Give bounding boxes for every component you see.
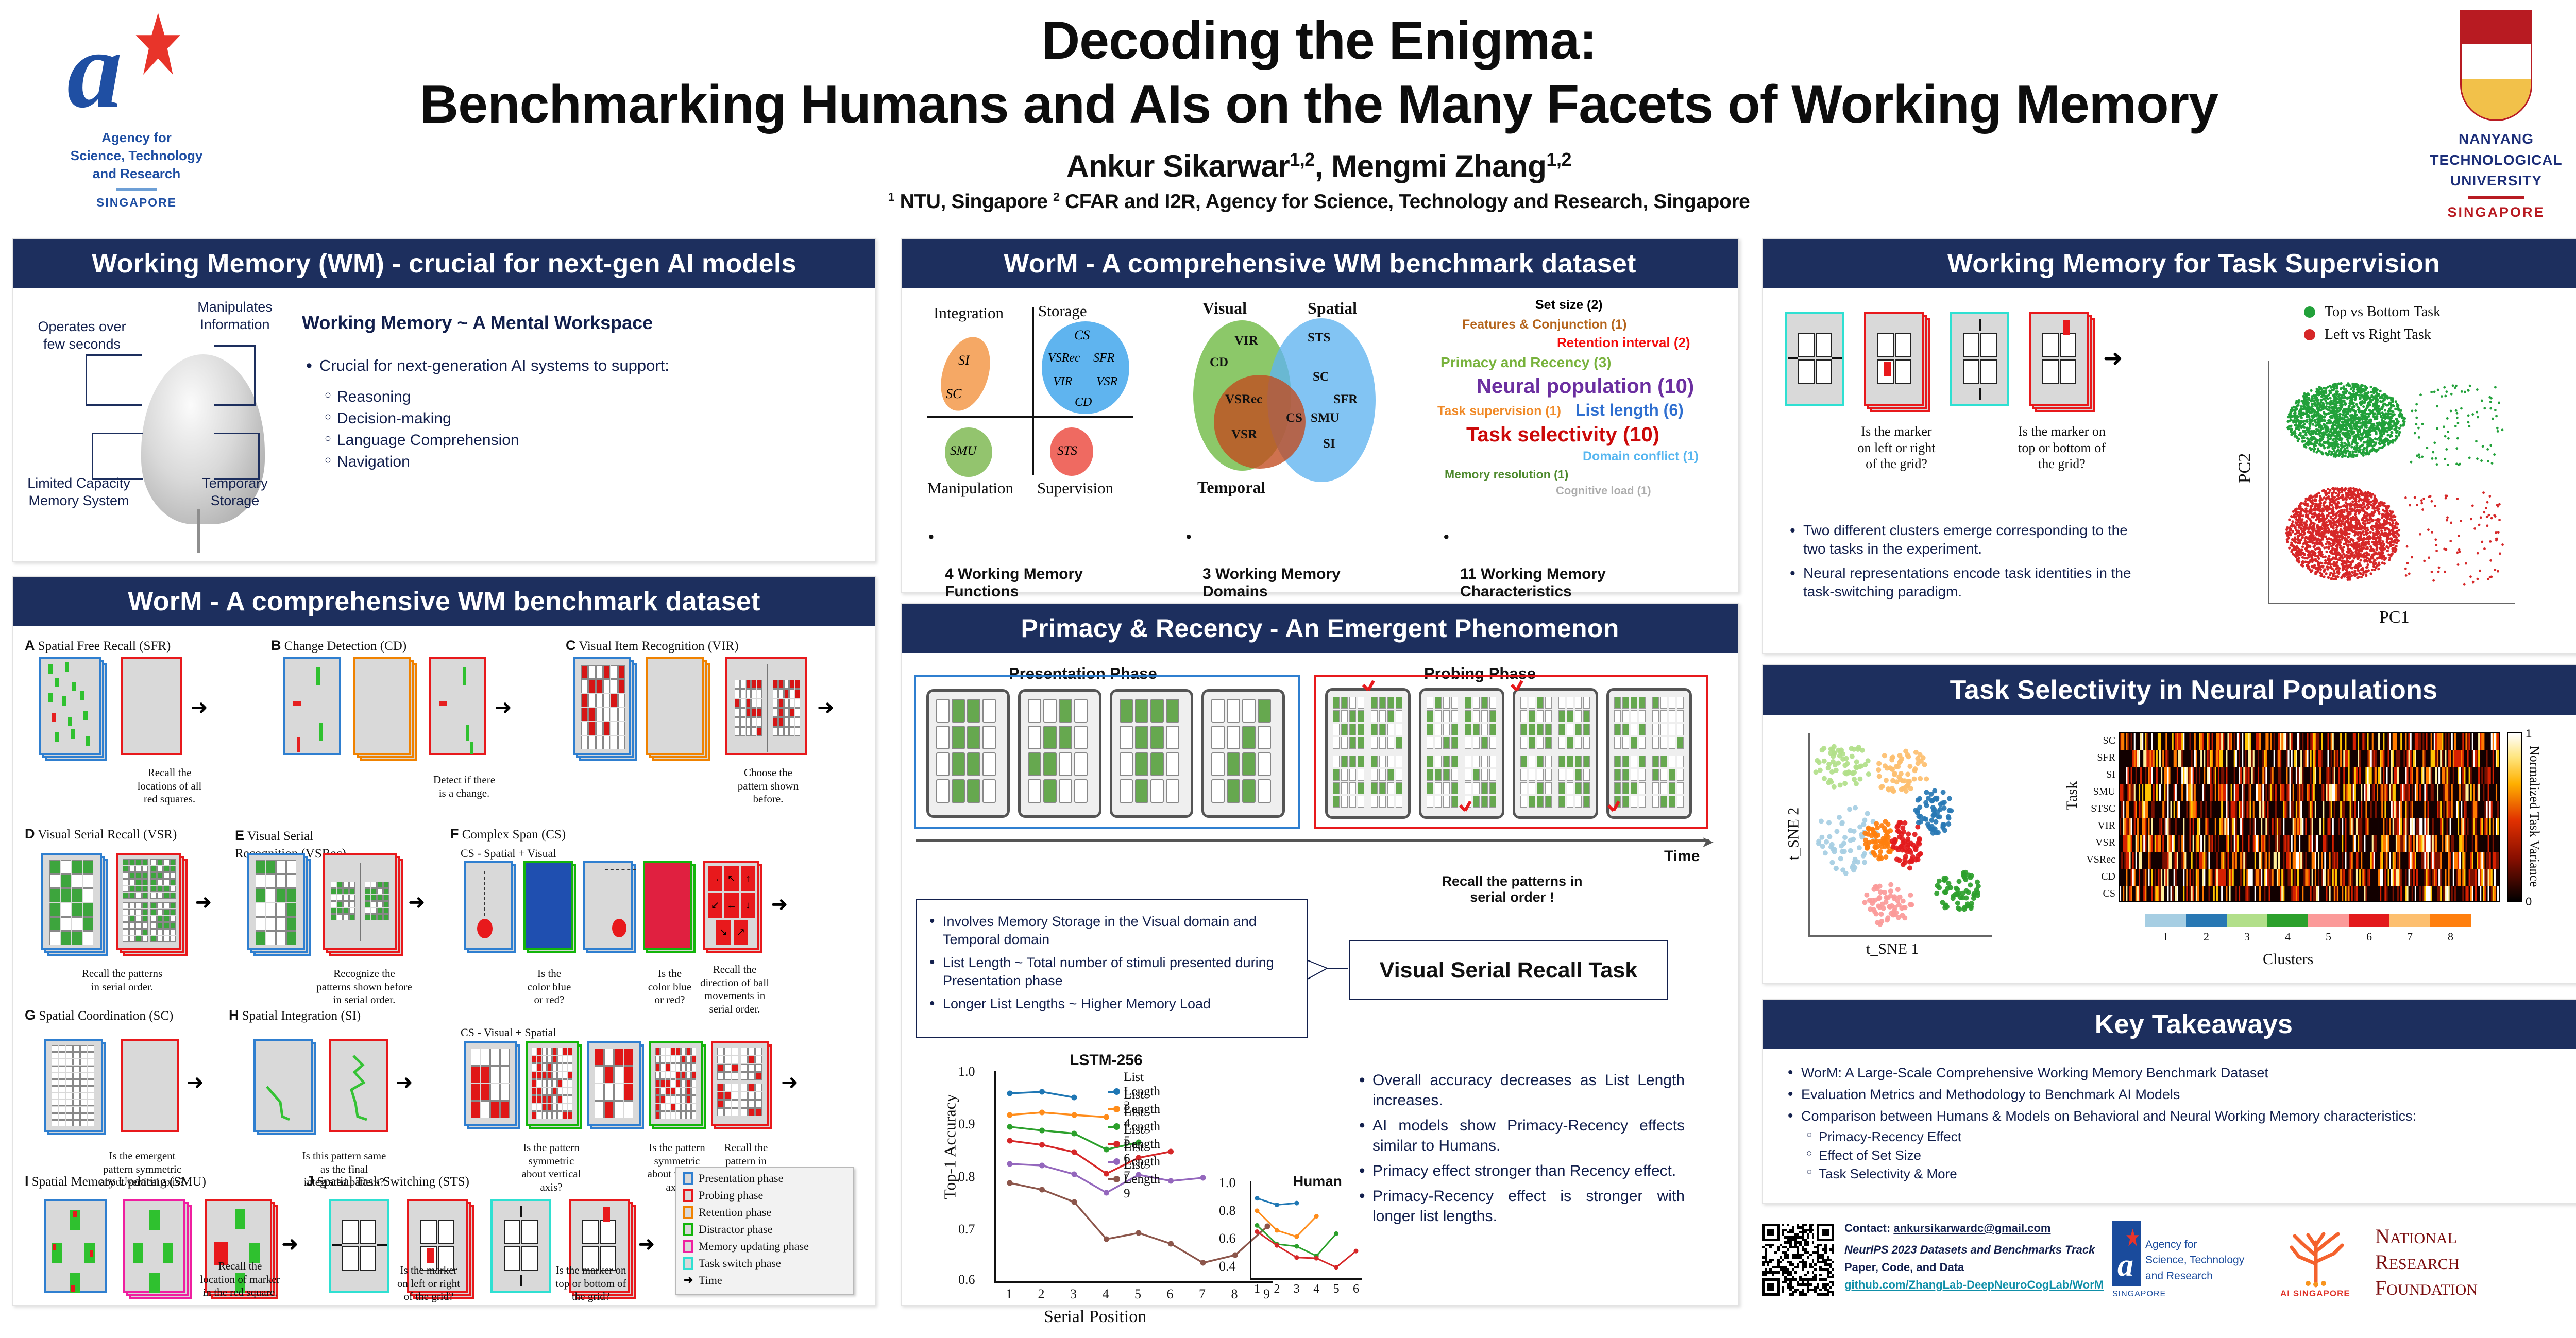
venn-label-spatial: Spatial	[1308, 299, 1357, 318]
cluster-swatch	[2308, 914, 2349, 927]
task-J-caption-2: Is the marker on top or bottom of the gr…	[542, 1264, 640, 1303]
task-D-arrow-icon: ➜	[195, 892, 212, 913]
wc-task-supervision: Task supervision (1)	[1437, 404, 1561, 419]
sup-bullet-1: Two different clusters emerge correspond…	[1786, 521, 2146, 559]
quad-label-supervision: Supervision	[1037, 479, 1113, 498]
chart-title: LSTM-256	[1070, 1052, 1143, 1069]
venn-item-VSRec: VSRec	[1225, 392, 1262, 407]
footer-astar-line1: Agency for	[2145, 1237, 2244, 1253]
caption-4-functions-text: 4 Working Memory Functions	[945, 565, 1083, 600]
quad-vertical-divider	[1032, 307, 1034, 475]
wm-sub-language: Language Comprehension	[321, 432, 858, 449]
cs1-caption-2: Is the color blue or red?	[639, 967, 701, 1007]
primacy-info-1: Involves Memory Storage in the Visual do…	[925, 913, 1296, 949]
task-J-arrow-icon: ➜	[638, 1234, 655, 1255]
task-H-name: Spatial Integration (SI)	[242, 1009, 361, 1023]
heatmap-row-label: CS	[2075, 888, 2115, 900]
timeline-arrow-head-icon: ➤	[1701, 833, 1714, 851]
ntu-divider	[2468, 196, 2524, 199]
heatmap-row-label: CD	[2075, 871, 2115, 883]
task-E-card-probe-1	[323, 853, 397, 950]
footer-astar-line2: Science, Technology	[2145, 1253, 2244, 1268]
task-D-card-probe-1	[116, 853, 181, 950]
tsne-y-axis	[1808, 733, 1810, 935]
footer-nrf-line3: FOUNDATION	[2375, 1275, 2530, 1301]
task-C-name: Visual Item Recognition (VIR)	[579, 639, 738, 653]
panel-takeaways-body: WorM: A Large-Scale Comprehensive Workin…	[1763, 1049, 2576, 1203]
panel-worm-tasks-body: A Spatial Free Recall (SFR) ➜ Recall the…	[13, 626, 875, 1305]
presentation-stimulus-1	[926, 689, 1010, 818]
cluster-label: 3	[2244, 930, 2250, 944]
task-H-letter: H	[229, 1007, 239, 1023]
pca-y-axis-label: PC2	[2235, 453, 2255, 484]
task-E-letter: E	[235, 828, 244, 843]
tsne-x-axis-label: t_SNE 1	[1866, 940, 1919, 958]
leader-line-top-right	[214, 345, 256, 406]
chart-ytick-5: 0.6	[958, 1272, 975, 1288]
panel-worm-tasks: WorM - A comprehensive WM benchmark data…	[12, 576, 876, 1306]
affiliations: 1 NTU, Singapore 2 CFAR and I2R, Agency …	[361, 190, 2277, 213]
panel-selectivity-title: Task Selectivity in Neural Populations	[1763, 665, 2576, 715]
task-C-card-probe	[725, 657, 807, 755]
legend-row-probing: Probing phase	[683, 1189, 853, 1202]
sup-bullets: Two different clusters emerge correspond…	[1786, 521, 2146, 607]
wm-sub-navigation: Navigation	[321, 453, 858, 471]
cluster-label: 8	[2448, 930, 2453, 944]
footer-astar-line3: and Research	[2145, 1268, 2244, 1284]
item-VIR: VIR	[1053, 375, 1072, 389]
ntu-logo: NANYANG TECHNOLOGICAL UNIVERSITY SINGAPO…	[2411, 10, 2576, 216]
task-E-caption: Recognize the patterns shown before in s…	[310, 967, 418, 1007]
task-B-card-retain-1	[353, 657, 411, 755]
panel-supervision-title: Working Memory for Task Supervision	[1763, 239, 2576, 288]
leader-line-bottom-right	[214, 433, 260, 480]
inset-ytick-1: 1.0	[1219, 1175, 1236, 1191]
legend-row-memory-updating: Memory updating phase	[683, 1240, 853, 1253]
heatmap-row-label: VSR	[2075, 837, 2115, 849]
human-inset-chart: Human 1.0 0.8 0.6 0.4 123456	[1217, 1177, 1371, 1301]
footer-text: Contact: ankursikarwardc@gmail.com NeurI…	[1844, 1223, 2104, 1291]
primacy-bullet-1: Overall accuracy decreases as List Lengt…	[1355, 1070, 1685, 1110]
sup-arrow-icon: ➜	[2103, 346, 2123, 370]
panel-task-selectivity: Task Selectivity in Neural Populations t…	[1762, 664, 2576, 984]
quad-horizontal-divider	[927, 416, 1133, 418]
sup-card-switch-2	[1950, 312, 2009, 406]
task-F-card-4a	[643, 861, 692, 950]
panel-worm-top-body: Integration Storage Manipulation Supervi…	[902, 288, 1738, 592]
brain-label-operates: Operates over few seconds	[28, 318, 136, 353]
colorbar-min-label: 0	[2526, 895, 2532, 908]
task-G-letter: G	[25, 1007, 36, 1023]
item-VSR: VSR	[1096, 375, 1117, 389]
leader-line-bottom-left	[92, 433, 143, 480]
worm-captions-row: • 4 Working Memory Functions • 3 Working…	[926, 530, 1720, 601]
phase-legend: Presentation phase Probing phase Retenti…	[675, 1167, 854, 1295]
task-C-caption: Choose the pattern shown before.	[724, 766, 812, 806]
footer-astar-logo: a Agency for Science, Technology and Res…	[2112, 1221, 2246, 1303]
sup-bullet-2: Neural representations encode task ident…	[1786, 564, 2146, 602]
footer-contact-email[interactable]: ankursikarwardc@gmail.com	[1893, 1222, 2050, 1234]
probing-stimulus-3	[1513, 688, 1598, 819]
footer-aisg-text: AI SINGAPORE	[2280, 1289, 2350, 1299]
quad-label-storage: Storage	[1038, 302, 1087, 320]
task-F-title: F Complex Span (CS)	[450, 826, 566, 842]
venn-label-visual: Visual	[1202, 299, 1247, 318]
task-G-arrow-icon: ➜	[187, 1072, 204, 1093]
tsne-points	[1811, 734, 1992, 935]
task-D-name: Visual Serial Recall (VSR)	[38, 828, 177, 842]
task-H-card-present-1	[253, 1039, 313, 1132]
task-F-card-5a: → ↖ ↑ ↙ ← ↓ ↘ ↗	[703, 861, 759, 950]
integration-ellipse	[932, 331, 998, 417]
task-C-arrow-icon: ➜	[817, 697, 835, 718]
wm-bullets: Crucial for next-generation AI systems t…	[302, 355, 858, 376]
task-B-card-present	[283, 657, 341, 755]
visual-serial-recall-task-box: Visual Serial Recall Task	[1349, 940, 1668, 1000]
task-E-arrow-icon: ➜	[408, 892, 426, 913]
heatmap-row-label: SI	[2075, 769, 2115, 781]
venn-item-STS: STS	[1308, 331, 1330, 345]
panel-primacy-recency: Primacy & Recency - An Emergent Phenomen…	[901, 603, 1739, 1306]
cs1-caption-1: Is the color blue or red?	[518, 967, 580, 1007]
takeaway-sub-3: Task Selectivity & More	[1803, 1166, 2576, 1182]
task-J-title: J Spatial Task Switching (STS)	[306, 1173, 469, 1189]
footer-paper-line: Paper, Code, and Data	[1844, 1262, 2104, 1273]
takeaway-1: WorM: A Large-Scale Comprehensive Workin…	[1784, 1064, 2576, 1082]
venn-item-SMU: SMU	[1311, 411, 1340, 425]
task-H-arrow-icon: ➜	[396, 1072, 413, 1093]
panel-selectivity-body: t_SNE 2 t_SNE 1 Task SCSFRSISMUSTSCVIRVS…	[1763, 715, 2576, 983]
task-F-card-1a	[464, 861, 513, 950]
task-A-title: A Spatial Free Recall (SFR)	[25, 638, 171, 654]
task-A-arrow-icon: ➜	[191, 697, 208, 718]
chart-x-axis-label: Serial Position	[1044, 1307, 1146, 1327]
heatmap-colorbar	[2507, 732, 2522, 902]
wm-characteristics-wordcloud: Set size (2) Features & Conjunction (1) …	[1437, 298, 1726, 504]
legend-row-time: ➜ Time	[683, 1274, 853, 1287]
tsne-y-axis-label: t_SNE 2	[1785, 808, 1802, 861]
task-C-card-present-1	[573, 657, 631, 755]
task-B-card-probe	[429, 657, 486, 755]
inset-ytick-4: 0.4	[1219, 1259, 1236, 1274]
sup-question-2: Is the marker on top or bottom of the gr…	[2005, 423, 2119, 472]
primacy-bullet-4: Primacy-Recency effect is stronger with …	[1355, 1186, 1685, 1226]
legend-label-distractor: Distractor phase	[699, 1223, 773, 1236]
wc-set-size: Set size (2)	[1535, 298, 1603, 313]
tsne-x-axis	[1808, 935, 1992, 937]
quad-label-manipulation: Manipulation	[927, 479, 1013, 498]
probing-stimulus-4	[1606, 688, 1692, 819]
legend-label-memory-updating: Memory updating phase	[699, 1240, 809, 1253]
primacy-bullet-2: AI models show Primacy-Recency effects s…	[1355, 1116, 1685, 1156]
venn-item-SC: SC	[1313, 370, 1329, 384]
poster-title-line1: Decoding the Enigma:	[361, 9, 2277, 73]
cs2-caption-1: Is the pattern symmetric about vertical …	[515, 1141, 587, 1194]
task-A-name: Spatial Free Recall (SFR)	[38, 639, 171, 653]
pca-points	[2271, 364, 2513, 601]
author-list: Ankur Sikarwar1,2, Mengmi Zhang1,2	[361, 148, 2277, 184]
panel-worm-overview: WorM - A comprehensive WM benchmark data…	[901, 238, 1739, 593]
probing-stimulus-1	[1325, 688, 1411, 819]
quadrant-diagram: Integration Storage Manipulation Supervi…	[927, 304, 1149, 500]
task-G-name: Spatial Coordination (SC)	[39, 1009, 173, 1023]
item-SMU: SMU	[950, 444, 976, 458]
panel-worm-tasks-title: WorM - A comprehensive WM benchmark data…	[13, 577, 875, 626]
wc-features-conj: Features & Conjunction (1)	[1462, 317, 1626, 332]
legend-label-time: Time	[699, 1274, 722, 1287]
colorbar-label: Normalized Task Variance	[2527, 746, 2542, 887]
astar-line3: and Research	[57, 165, 216, 183]
caption-3-domains: • 3 Working Memory Domains	[1184, 530, 1442, 601]
poster-footer: Contact: ankursikarwardc@gmail.com NeurI…	[1762, 1221, 2576, 1313]
task-B-arrow-icon: ➜	[495, 697, 512, 718]
ntu-line3: UNIVERSITY	[2411, 170, 2576, 192]
task-I-card-update-1	[123, 1199, 185, 1293]
footer-nrf-logo: NATIONAL RESEARCH FOUNDATION	[2375, 1224, 2530, 1301]
task-A-card-probe	[121, 657, 182, 755]
caption-3-domains-text: 3 Working Memory Domains	[1202, 565, 1341, 600]
legend-row-task-switch: Task switch phase	[683, 1257, 853, 1270]
legend-label-presentation: Presentation phase	[699, 1172, 783, 1185]
wc-domain-conflict: Domain conflict (1)	[1583, 449, 1699, 464]
takeaway-2: Evaluation Metrics and Methodology to Be…	[1784, 1086, 2576, 1104]
task-D-title: D Visual Serial Recall (VSR)	[25, 826, 177, 842]
title-block: Decoding the Enigma: Benchmarking Humans…	[361, 9, 2277, 213]
task-G-title: G Spatial Coordination (SC)	[25, 1007, 173, 1023]
legend-label-retention: Retention phase	[699, 1206, 771, 1219]
footer-astar-country: SINGAPORE	[2112, 1290, 2166, 1299]
aisg-tree-icon	[2272, 1221, 2360, 1289]
sup-question-1: Is the marker on left or right of the gr…	[1842, 423, 1951, 472]
astar-logo-text: Agency for Science, Technology and Resea…	[57, 129, 216, 211]
cluster-label: 7	[2407, 930, 2413, 944]
footer-aisg-logo: AI SINGAPORE	[2272, 1221, 2365, 1303]
recall-note: Recall the patterns in serial order !	[1427, 873, 1597, 905]
task-G-card-present-1	[44, 1039, 103, 1132]
task-A-caption: Recall the locations of all red squares.	[126, 766, 213, 806]
takeaway-sub-2: Effect of Set Size	[1803, 1147, 2576, 1163]
primacy-info-3: Longer List Lengths ~ Higher Memory Load	[925, 995, 1296, 1013]
author-2-sup: 1,2	[1546, 149, 1571, 170]
item-SI: SI	[958, 353, 970, 368]
footer-contact-label: Contact:	[1844, 1222, 1890, 1234]
cluster-swatch	[2267, 914, 2308, 927]
takeaway-sub-items: Primacy-Recency Effect Effect of Set Siz…	[1803, 1129, 2576, 1182]
heatmap-row-label: SC	[2075, 735, 2115, 747]
footer-contact-line: Contact: ankursikarwardc@gmail.com	[1844, 1223, 2104, 1234]
pca-legend-label-1: Top vs Bottom Task	[2325, 304, 2441, 320]
task-A-letter: A	[25, 638, 35, 653]
task-I-arrow-icon: ➜	[281, 1234, 299, 1255]
ntu-logo-text: NANYANG TECHNOLOGICAL UNIVERSITY SINGAPO…	[2411, 129, 2576, 222]
heatmap-row-label: VSRec	[2075, 854, 2115, 866]
tsne-plot: t_SNE 2 t_SNE 1	[1784, 727, 2021, 969]
pca-scatter-plot: Top vs Bottom Task Left vs Right Task PC…	[2180, 304, 2576, 639]
cluster-label: 4	[2285, 930, 2291, 944]
footer-repo-link[interactable]: github.com/ZhangLab-DeepNeuroCogLab/WorM	[1844, 1279, 2104, 1291]
affil-sup-1: 1	[888, 190, 895, 203]
venn-item-VSR: VSR	[1231, 427, 1257, 442]
cs-subtitle-1: CS - Spatial + Visual	[461, 847, 589, 861]
quad-label-integration: Integration	[934, 304, 1004, 322]
cluster-label: 5	[2326, 930, 2331, 944]
legend-row-distractor: Distractor phase	[683, 1223, 853, 1236]
task-C-letter: C	[566, 638, 576, 653]
qr-code[interactable]	[1762, 1224, 1834, 1296]
poster-header: a Agency for Science, Technology and Res…	[0, 0, 2576, 227]
astar-country: SINGAPORE	[57, 195, 216, 211]
primacy-info-box: Involves Memory Storage in the Visual do…	[916, 899, 1308, 1038]
brain-label-temporary-storage: Temporary Storage	[183, 475, 286, 510]
pca-legend-label-2: Left vs Right Task	[2325, 327, 2431, 343]
task-F-card-3a	[583, 861, 633, 950]
wc-task-selectivity: Task selectivity (10)	[1466, 423, 1659, 447]
venn-label-temporal: Temporal	[1197, 478, 1265, 497]
panel-primacy-title: Primacy & Recency - An Emergent Phenomen…	[902, 604, 1738, 653]
cluster-color-bar	[2145, 914, 2471, 927]
legend-label-probing: Probing phase	[699, 1189, 763, 1202]
pca-x-axis-label: PC1	[2379, 608, 2410, 627]
legend-row-retention: Retention phase	[683, 1206, 853, 1219]
task-CS2-card-5a	[711, 1041, 769, 1126]
primacy-bullets: Overall accuracy decreases as List Lengt…	[1355, 1070, 1685, 1231]
task-E-card-present-1	[247, 853, 305, 950]
task-CS2-card-2a	[526, 1041, 579, 1126]
ntu-line2: TECHNOLOGICAL	[2411, 150, 2576, 171]
heatmap-row-label: SFR	[2075, 752, 2115, 764]
pca-legend-left-right: Left vs Right Task	[2304, 327, 2431, 343]
takeaway-3: Comparison between Humans & Models on Be…	[1784, 1107, 2576, 1125]
cluster-swatch	[2430, 914, 2471, 927]
author-1-sup: 1,2	[1290, 149, 1315, 170]
cluster-swatch	[2389, 914, 2430, 927]
task-CS2-arrow-icon: ➜	[781, 1072, 799, 1093]
presentation-stimulus-3	[1110, 689, 1193, 818]
item-CS: CS	[1074, 328, 1090, 343]
venn-item-VIR: VIR	[1234, 334, 1258, 348]
astar-line1: Agency for	[57, 129, 216, 147]
task-D-caption: Recall the patterns in serial order.	[63, 967, 181, 993]
panel-supervision-body: ➜ Is the marker on left or right of the …	[1763, 288, 2576, 653]
venn-item-SI: SI	[1323, 437, 1335, 451]
pca-legend-top-bottom: Top vs Bottom Task	[2304, 304, 2441, 320]
footer-astar-text: Agency for Science, Technology and Resea…	[2145, 1237, 2244, 1284]
task-I-caption-visible: Recall the location of marker in the red…	[183, 1260, 297, 1299]
ntu-line1: NANYANG	[2411, 129, 2576, 150]
task-D-card-present-1	[41, 853, 102, 950]
wc-retention-interval: Retention interval (2)	[1557, 335, 1690, 351]
astar-logo: a Agency for Science, Technology and Res…	[57, 13, 216, 214]
task-A-card-present-1	[39, 657, 101, 755]
heatmap: Task SCSFRSISMUSTSCVIRVSRVSRecCDCS 1 0 N…	[2052, 725, 2576, 972]
heatmap-row-label: VIR	[2075, 820, 2115, 832]
legend-row-presentation: Presentation phase	[683, 1172, 853, 1185]
primacy-info-2: List Length ~ Total number of stimuli pr…	[925, 954, 1296, 990]
affil-1: NTU, Singapore	[900, 191, 1048, 213]
presentation-phase-box	[914, 675, 1300, 829]
brain-label-manipulates: Manipulates Information	[183, 299, 286, 334]
item-SC: SC	[946, 386, 961, 402]
takeaway-bullets: WorM: A Large-Scale Comprehensive Workin…	[1784, 1064, 2576, 1125]
task-B-title: B Change Detection (CD)	[271, 638, 406, 654]
chart-ytick-4: 0.7	[958, 1222, 975, 1237]
item-SFR: SFR	[1093, 351, 1114, 365]
task-CS2-card-1a	[464, 1041, 517, 1126]
task-F-letter: F	[450, 826, 459, 842]
task-D-letter: D	[25, 826, 35, 842]
task-I-letter: I	[25, 1173, 29, 1189]
cluster-label: 1	[2163, 930, 2168, 944]
wm-sub-items: Reasoning Decision-making Language Compr…	[321, 388, 858, 471]
affil-sup-2: 2	[1053, 190, 1060, 203]
chart-ytick-1: 1.0	[958, 1064, 975, 1079]
astar-divider	[116, 188, 157, 191]
task-F-card-2a	[523, 861, 573, 950]
sup-card-probe1-1	[1864, 312, 1924, 406]
task-H-card-probe	[329, 1039, 388, 1132]
panel-task-supervision: Working Memory for Task Supervision	[1762, 238, 2576, 654]
takeaway-sub-1: Primacy-Recency Effect	[1803, 1129, 2576, 1145]
inset-ytick-2: 0.8	[1219, 1203, 1236, 1219]
sup-card-probe2-1	[2029, 312, 2089, 406]
task-I-name: Spatial Memory Updating (SMU)	[32, 1175, 206, 1189]
task-I-title: I Spatial Memory Updating (SMU)	[25, 1173, 206, 1189]
caption-4-functions: • 4 Working Memory Functions	[926, 530, 1184, 601]
task-B-caption: Detect if there is a change.	[420, 774, 508, 800]
chart-legend-item: List Length 9	[1108, 1158, 1167, 1201]
wm-bullet-item: Crucial for next-generation AI systems t…	[302, 355, 858, 376]
heatmap-cells	[2119, 732, 2500, 902]
footer-nrf-line2: RESEARCH	[2375, 1249, 2530, 1275]
panel-wm-body: Operates over few seconds Manipulates In…	[13, 288, 875, 561]
heatmap-row-label: SMU	[2075, 786, 2115, 798]
item-CD: CD	[1075, 396, 1092, 409]
item-STS: STS	[1057, 444, 1077, 458]
panel-primacy-body: Presentation Phase Probing Phase ➤ Time …	[902, 653, 1738, 1305]
wc-cognitive-load: Cognitive load (1)	[1556, 484, 1651, 498]
astar-line2: Science, Technology	[57, 147, 216, 165]
panel-working-memory-intro: Working Memory (WM) - crucial for next-g…	[12, 238, 876, 562]
wm-sub-decision: Decision-making	[321, 410, 858, 427]
panel-worm-top-title: WorM - A comprehensive WM benchmark data…	[902, 239, 1738, 288]
wm-subtitle: Working Memory ~ A Mental Workspace	[302, 312, 858, 334]
brain-label-limited-capacity: Limited Capacity Memory System	[20, 475, 138, 510]
pca-y-axis	[2268, 361, 2269, 603]
colorbar-max-label: 1	[2526, 727, 2532, 741]
task-C-card-retain-1	[646, 657, 704, 755]
cs1-caption-3: Recall the direction of ball movements i…	[699, 963, 771, 1016]
sup-card-switch-1	[1785, 312, 1844, 406]
task-G-card-probe	[121, 1039, 179, 1132]
affil-2: CFAR and I2R, Agency for Science, Techno…	[1065, 191, 1750, 213]
panel-takeaways-title: Key Takeaways	[1763, 1000, 2576, 1049]
task-J-card-switch-1	[329, 1199, 389, 1293]
inset-ytick-3: 0.6	[1219, 1231, 1236, 1246]
probing-phase-box	[1314, 675, 1708, 829]
task-F-arrow-icon: ➜	[771, 894, 788, 915]
author-2: , Mengmi Zhang	[1315, 149, 1547, 183]
task-F-name: Complex Span (CS)	[462, 828, 566, 842]
time-label: Time	[1664, 848, 1700, 865]
legend-label-task-switch: Task switch phase	[699, 1257, 781, 1270]
ntu-country: SINGAPORE	[2411, 202, 2576, 222]
primacy-bullet-3: Primacy effect stronger than Recency eff…	[1355, 1161, 1685, 1181]
wm-text-column: Working Memory ~ A Mental Workspace Cruc…	[302, 312, 858, 471]
task-CS2-card-3a	[587, 1041, 641, 1126]
task-C-title: C Visual Item Recognition (VIR)	[566, 638, 739, 654]
cs-subtitle-2: CS - Visual + Spatial	[461, 1026, 589, 1040]
wc-memory-resolution: Memory resolution (1)	[1445, 468, 1568, 482]
